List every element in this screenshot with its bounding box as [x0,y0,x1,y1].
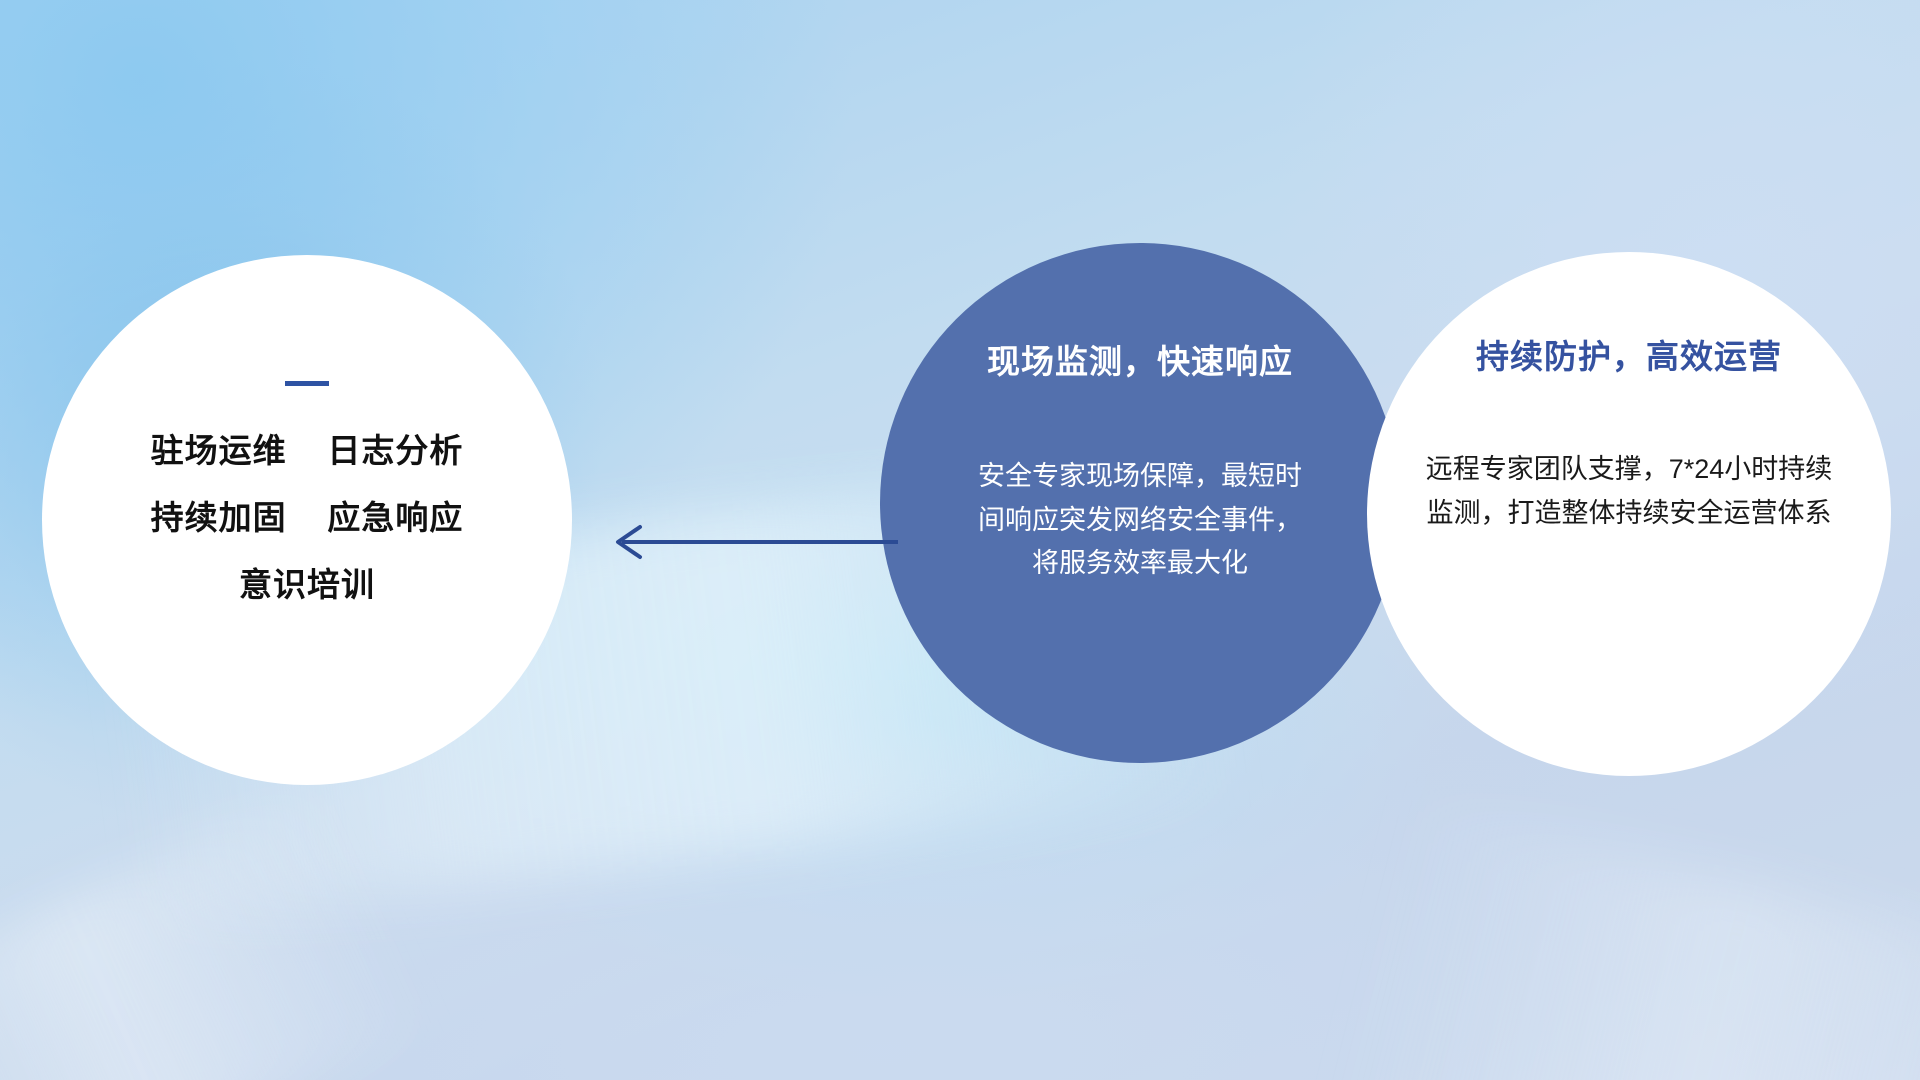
capability-line: 意识培训 [239,568,375,601]
connector-arrow [600,518,900,566]
onsite-title: 现场监测，快速响应 [987,335,1293,383]
node-content-onsite: 现场监测，快速响应 安全专家现场保障，最短时间响应突发网络安全事件，将服务效率最… [880,243,1400,763]
onsite-body: 安全专家现场保障，最短时间响应突发网络安全事件，将服务效率最大化 [975,455,1305,586]
divider-rule-icon [285,381,329,386]
slide-canvas: 现场监测，快速响应 安全专家现场保障，最短时间响应突发网络安全事件，将服务效率最… [0,0,1920,1080]
continuous-body: 远程专家团队支撑，7*24小时持续监测，打造整体持续安全运营体系 [1419,448,1839,535]
capability-line: 持续加固 应急响应 [151,501,464,534]
capability-line: 驻场运维 日志分析 [151,434,464,467]
node-content-capabilities: 驻场运维 日志分析 持续加固 应急响应 意识培训 [42,255,572,785]
node-content-continuous: 持续防护，高效运营 远程专家团队支撑，7*24小时持续监测，打造整体持续安全运营… [1367,252,1891,776]
continuous-title: 持续防护，高效运营 [1476,330,1782,378]
